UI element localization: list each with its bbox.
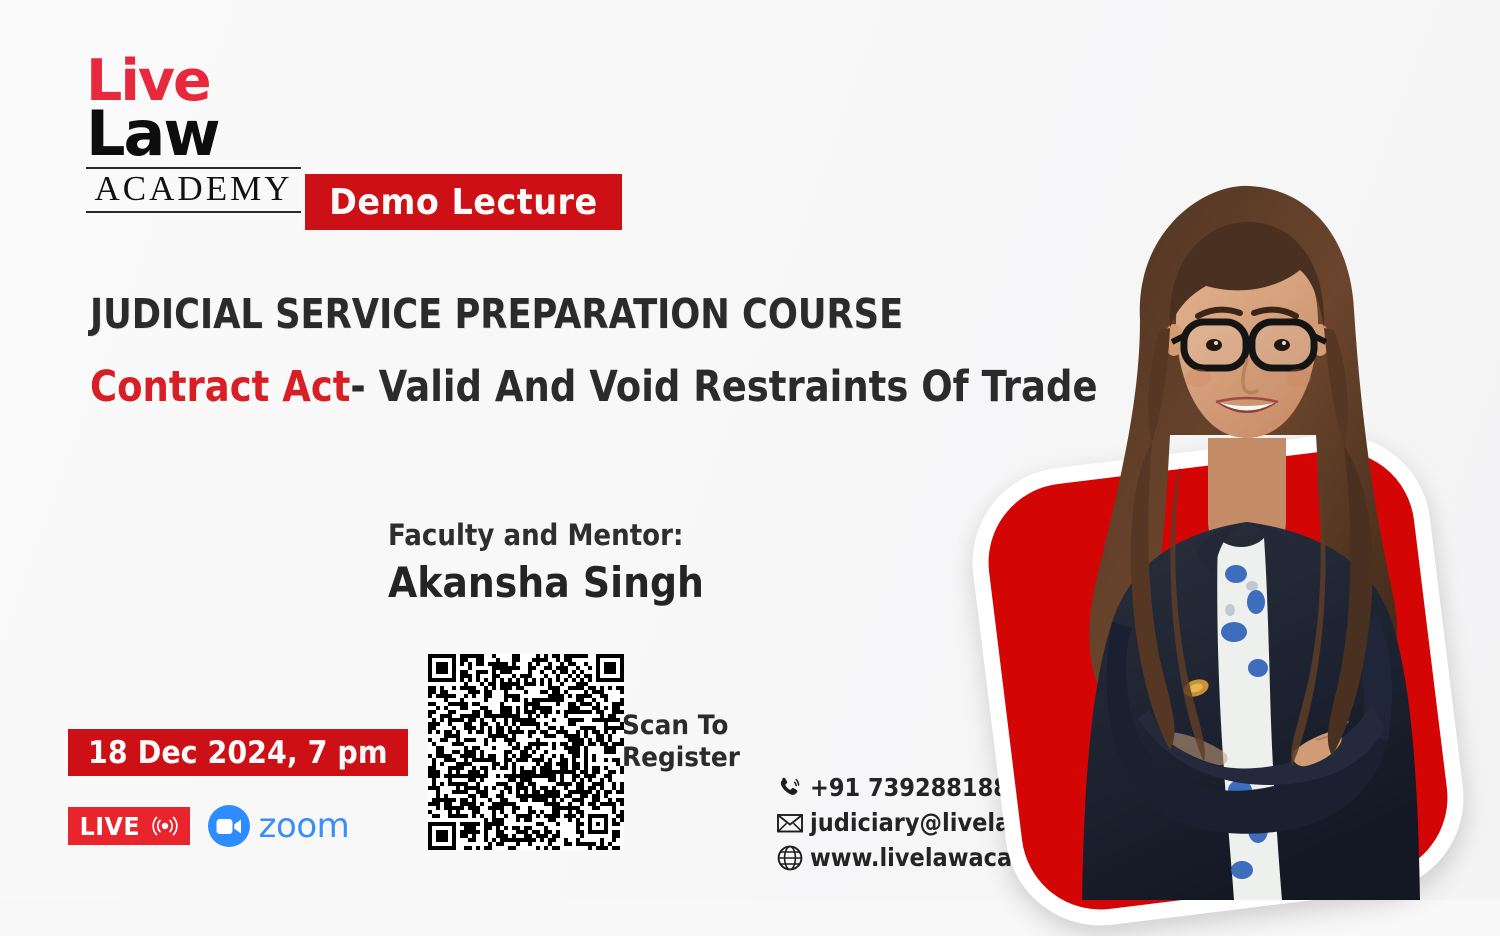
broadcast-waves-icon xyxy=(150,814,180,838)
zoom-camera-icon xyxy=(208,805,250,847)
qr-code-wrapper[interactable] xyxy=(428,654,624,850)
qr-code-image[interactable] xyxy=(428,654,624,850)
course-title: JUDICIAL SERVICE PREPARATION COURSE xyxy=(90,290,903,338)
faculty-name: Akansha Singh xyxy=(388,558,704,607)
brand-logo[interactable]: Live Law ACADEMY xyxy=(86,58,301,213)
demo-lecture-label: Demo Lecture xyxy=(329,182,598,223)
scan-line-1: Scan To xyxy=(622,710,740,742)
date-time-badge: 18 Dec 2024, 7 pm xyxy=(68,729,408,776)
phone-icon xyxy=(776,774,804,802)
scan-to-register-label: Scan To Register xyxy=(622,710,740,774)
poster-canvas: Live Law ACADEMY Demo Lecture JUDICIAL S… xyxy=(0,0,1500,900)
envelope-icon xyxy=(776,809,804,837)
date-time-label: 18 Dec 2024, 7 pm xyxy=(88,735,388,771)
zoom-wordmark: zoom xyxy=(259,806,350,846)
demo-lecture-badge: Demo Lecture xyxy=(305,174,622,230)
live-badge: LIVE xyxy=(68,807,190,845)
faculty-portrait xyxy=(1020,170,1460,900)
scan-line-2: Register xyxy=(622,742,740,774)
logo-academy-box: ACADEMY xyxy=(86,167,301,213)
live-label: LIVE xyxy=(80,812,140,841)
topic-title: Contract Act- Valid And Void Restraints … xyxy=(90,362,1098,412)
topic-highlight: Contract Act xyxy=(90,362,350,412)
zoom-logo[interactable]: zoom xyxy=(208,805,350,847)
faculty-label: Faculty and Mentor: xyxy=(388,518,704,552)
globe-icon xyxy=(776,844,804,872)
logo-law-text: Law xyxy=(86,107,301,160)
broadcast-row: LIVE zoom xyxy=(68,805,349,847)
logo-academy-text: ACADEMY xyxy=(86,171,301,208)
faculty-block: Faculty and Mentor: Akansha Singh xyxy=(388,518,739,607)
faculty-photo-area xyxy=(960,150,1500,890)
